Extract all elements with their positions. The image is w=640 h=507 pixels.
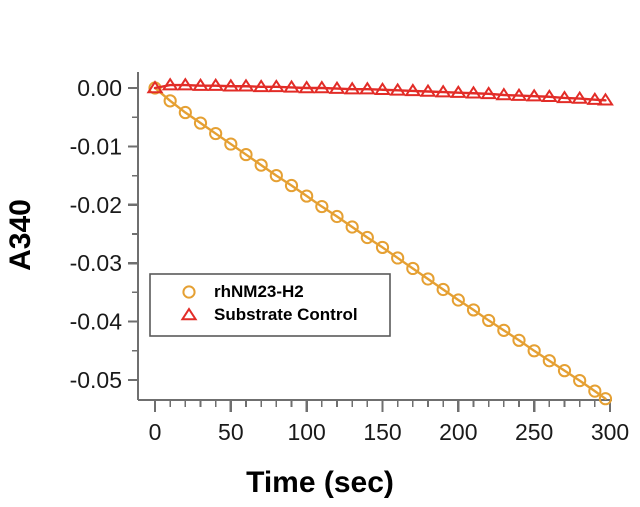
y-tick-label: -0.04 [70, 309, 123, 335]
x-tick-label: 100 [287, 419, 325, 445]
chart-svg: 0.00-0.01-0.02-0.03-0.04-0.05 0501001502… [0, 0, 640, 507]
y-tick-label: -0.02 [70, 192, 122, 218]
x-tick-label: 200 [439, 419, 477, 445]
x-tick-label: 50 [218, 419, 244, 445]
y-tick-label: -0.03 [70, 250, 122, 276]
x-tick-label: 150 [363, 419, 401, 445]
legend-label: Substrate Control [214, 305, 358, 324]
y-tick-label: 0.00 [77, 75, 122, 101]
chart-figure: 0.00-0.01-0.02-0.03-0.04-0.05 0501001502… [0, 0, 640, 507]
x-tick-label: 300 [591, 419, 629, 445]
y-axis-title: A340 [4, 199, 37, 271]
x-tick-label: 0 [149, 419, 162, 445]
y-tick-label: -0.05 [70, 367, 122, 393]
x-axis-title: Time (sec) [246, 466, 394, 499]
y-tick-label: -0.01 [70, 133, 122, 159]
legend-label: rhNM23-H2 [214, 282, 304, 301]
chart-legend: rhNM23-H2Substrate Control [150, 274, 390, 336]
x-tick-label: 250 [515, 419, 553, 445]
